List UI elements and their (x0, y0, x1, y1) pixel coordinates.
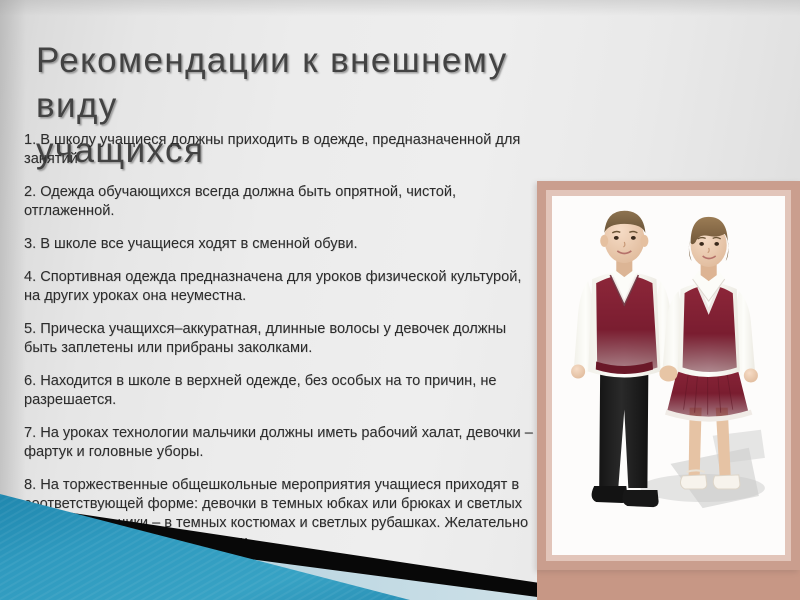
boy-shoe-right (622, 490, 658, 507)
list-item: 8. На торжественные общешкольные меропри… (24, 476, 536, 552)
title-line-1: Рекомендации к внешнему виду (36, 41, 508, 125)
list-item: 3. В школе все учащиеся ходят в сменной … (24, 235, 536, 254)
left-vignette (0, 0, 26, 600)
photo-frame (537, 181, 800, 570)
list-item: 7. На уроках технологии мальчики должны … (24, 424, 536, 462)
pupils-photo (552, 196, 785, 555)
frame-base-band (537, 570, 800, 600)
girl-shoe-left (680, 475, 706, 489)
photo-frame-inner-border (546, 190, 791, 561)
recommendations-list: 1. В школу учащиеся должны приходить в о… (24, 131, 536, 551)
slide: Рекомендации к внешнему виду учащихся 1.… (0, 0, 800, 600)
joined-hands (659, 365, 677, 381)
boy-shoe-left (592, 486, 628, 503)
list-item: 5. Прическа учащихся–аккуратная, длинные… (24, 320, 536, 358)
top-vignette (0, 0, 800, 16)
list-item: 2. Одежда обучающихся всегда должна быть… (24, 183, 536, 221)
girl-shoe-right (713, 475, 740, 489)
list-item: 4. Спортивная одежда предназначена для у… (24, 268, 536, 306)
list-item: 1. В школу учащиеся должны приходить в о… (24, 131, 536, 169)
list-item: 6. Находится в школе в верхней одежде, б… (24, 372, 536, 410)
